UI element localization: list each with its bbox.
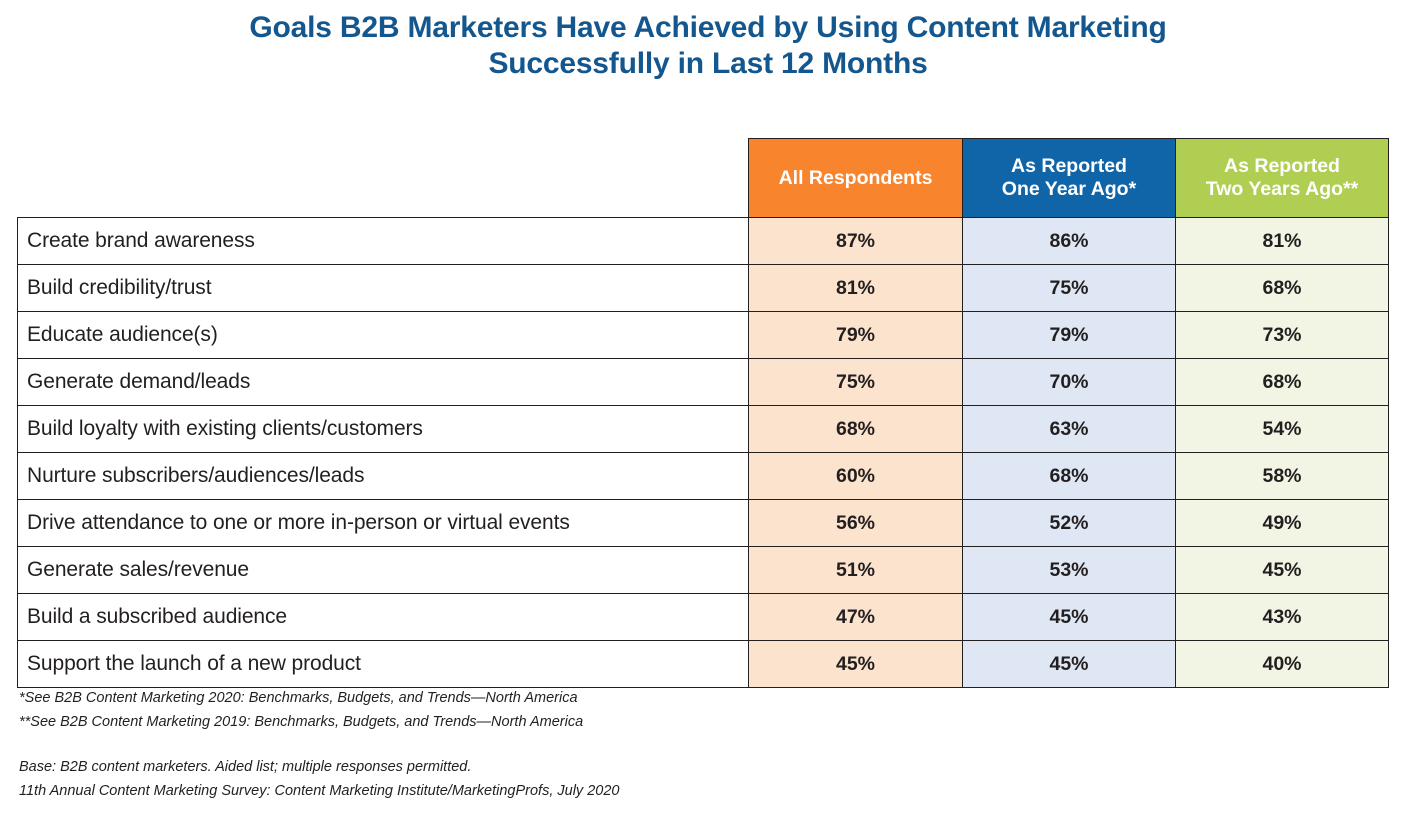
page-title-line-2: Successfully in Last 12 Months (0, 46, 1416, 82)
cell-one-year-ago: 79% (963, 312, 1176, 359)
table-row: Educate audience(s) 79% 79% 73% (18, 312, 1389, 359)
cell-one-year-ago: 53% (963, 547, 1176, 594)
row-label: Create brand awareness (18, 218, 749, 265)
cell-two-years-ago: 81% (1176, 218, 1389, 265)
table-row: Build a subscribed audience 47% 45% 43% (18, 594, 1389, 641)
cell-one-year-ago: 68% (963, 453, 1176, 500)
base-line: Base: B2B content marketers. Aided list;… (19, 755, 619, 779)
cell-all-respondents: 75% (749, 359, 963, 406)
table-row: Nurture subscribers/audiences/leads 60% … (18, 453, 1389, 500)
header-all-respondents-line-1: All Respondents (755, 167, 956, 190)
row-label: Educate audience(s) (18, 312, 749, 359)
footnote-one-star: *See B2B Content Marketing 2020: Benchma… (19, 686, 583, 710)
cell-two-years-ago: 68% (1176, 265, 1389, 312)
table-row: Generate demand/leads 75% 70% 68% (18, 359, 1389, 406)
header-two-years-ago-line-1: As Reported (1182, 155, 1382, 178)
header-one-year-ago-line-2: One Year Ago* (969, 178, 1169, 201)
cell-two-years-ago: 68% (1176, 359, 1389, 406)
header-all-respondents: All Respondents (749, 139, 963, 218)
footnote-two-star: **See B2B Content Marketing 2019: Benchm… (19, 710, 583, 734)
cell-two-years-ago: 73% (1176, 312, 1389, 359)
cell-one-year-ago: 86% (963, 218, 1176, 265)
results-table-container: All Respondents As Reported One Year Ago… (17, 138, 1388, 688)
header-label-column (18, 139, 749, 218)
row-label: Build loyalty with existing clients/cust… (18, 406, 749, 453)
cell-all-respondents: 68% (749, 406, 963, 453)
row-label: Build credibility/trust (18, 265, 749, 312)
cell-all-respondents: 60% (749, 453, 963, 500)
table-header-row: All Respondents As Reported One Year Ago… (18, 139, 1389, 218)
cell-all-respondents: 45% (749, 641, 963, 688)
cell-two-years-ago: 58% (1176, 453, 1389, 500)
table-row: Drive attendance to one or more in-perso… (18, 500, 1389, 547)
row-label: Build a subscribed audience (18, 594, 749, 641)
header-one-year-ago-line-1: As Reported (969, 155, 1169, 178)
cell-one-year-ago: 70% (963, 359, 1176, 406)
row-label: Support the launch of a new product (18, 641, 749, 688)
cell-two-years-ago: 54% (1176, 406, 1389, 453)
source-line: 11th Annual Content Marketing Survey: Co… (19, 779, 619, 803)
cell-all-respondents: 47% (749, 594, 963, 641)
cell-one-year-ago: 63% (963, 406, 1176, 453)
footnotes: *See B2B Content Marketing 2020: Benchma… (19, 686, 583, 734)
cell-two-years-ago: 43% (1176, 594, 1389, 641)
cell-two-years-ago: 40% (1176, 641, 1389, 688)
table-row: Generate sales/revenue 51% 53% 45% (18, 547, 1389, 594)
row-label: Generate demand/leads (18, 359, 749, 406)
cell-two-years-ago: 49% (1176, 500, 1389, 547)
table-row: Create brand awareness 87% 86% 81% (18, 218, 1389, 265)
cell-one-year-ago: 45% (963, 641, 1176, 688)
header-two-years-ago: As Reported Two Years Ago** (1176, 139, 1389, 218)
cell-all-respondents: 79% (749, 312, 963, 359)
header-one-year-ago: As Reported One Year Ago* (963, 139, 1176, 218)
table-header: All Respondents As Reported One Year Ago… (18, 139, 1389, 218)
table-row: Build loyalty with existing clients/cust… (18, 406, 1389, 453)
page-title: Goals B2B Marketers Have Achieved by Usi… (0, 10, 1416, 82)
row-label: Generate sales/revenue (18, 547, 749, 594)
cell-one-year-ago: 45% (963, 594, 1176, 641)
cell-all-respondents: 56% (749, 500, 963, 547)
cell-one-year-ago: 52% (963, 500, 1176, 547)
row-label: Nurture subscribers/audiences/leads (18, 453, 749, 500)
cell-two-years-ago: 45% (1176, 547, 1389, 594)
table-row: Support the launch of a new product 45% … (18, 641, 1389, 688)
page-title-line-1: Goals B2B Marketers Have Achieved by Usi… (0, 10, 1416, 46)
cell-one-year-ago: 75% (963, 265, 1176, 312)
row-label: Drive attendance to one or more in-perso… (18, 500, 749, 547)
base-and-source: Base: B2B content marketers. Aided list;… (19, 755, 619, 803)
cell-all-respondents: 81% (749, 265, 963, 312)
cell-all-respondents: 87% (749, 218, 963, 265)
table-row: Build credibility/trust 81% 75% 68% (18, 265, 1389, 312)
results-table: All Respondents As Reported One Year Ago… (17, 138, 1389, 688)
cell-all-respondents: 51% (749, 547, 963, 594)
header-two-years-ago-line-2: Two Years Ago** (1182, 178, 1382, 201)
table-body: Create brand awareness 87% 86% 81% Build… (18, 218, 1389, 688)
